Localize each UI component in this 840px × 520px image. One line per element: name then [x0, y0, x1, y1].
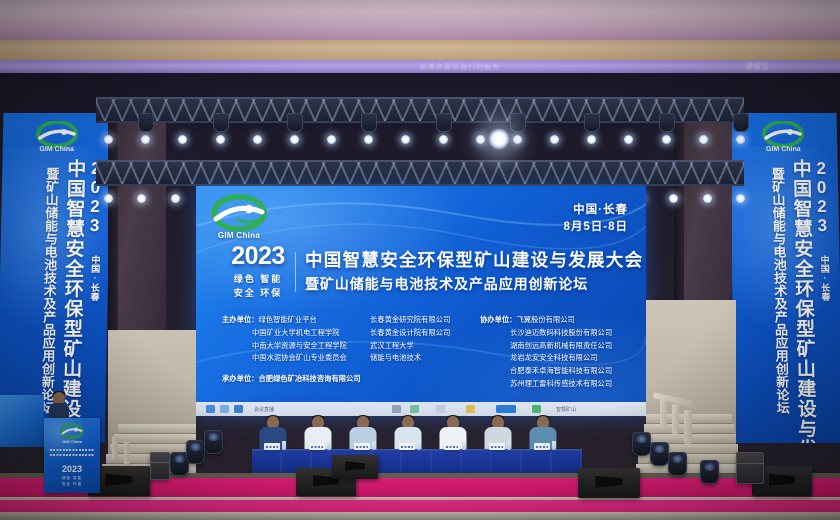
floor-moving-light — [204, 430, 223, 454]
balustrade-post — [112, 436, 118, 460]
standee-sub-2: 安全 环保 — [44, 481, 100, 487]
gim-logo-icon: GIM China — [760, 121, 807, 153]
stage-apron-edge-lower — [0, 512, 840, 520]
standee-text-line — [50, 449, 94, 451]
truss-row-upper — [96, 97, 744, 123]
screen-year-sub-1: 绿色 智能 — [226, 273, 290, 287]
screen-title-main: 中国智慧安全环保型矿山建设与发展大会 — [305, 250, 643, 272]
stage-spot-light — [141, 135, 150, 144]
host-value-1: 中国矿业大学机电工程学院 — [222, 327, 370, 340]
screen-dates: 8月5日-8日 — [563, 219, 628, 236]
stage-spot-light — [401, 135, 410, 144]
svg-text:GIM China: GIM China — [766, 146, 801, 153]
stage-spot-light — [736, 135, 745, 144]
side-monitor-screen — [0, 395, 44, 447]
browser-reload-icon — [234, 405, 243, 413]
speaker-name-card — [309, 443, 325, 450]
screen-undertaker-line: 承办单位：合肥绿色矿冶科技咨询有限公司 — [222, 374, 361, 384]
side-banner-right: GIM China 2023 中国·长春 中国智慧安全环保型矿山建设与发展大会 … — [729, 113, 840, 443]
ceiling-led-text: 如果你喜欢我们的服务 — [420, 62, 500, 72]
stage-monitor-speaker — [578, 468, 640, 498]
water-bottle — [282, 441, 286, 450]
title-divider — [295, 252, 296, 292]
screen-title-text: 中国智慧安全环保型矿山建设与发展大会 暨矿山储能与电池技术及产品应用创新论坛 — [305, 250, 643, 293]
stage-spot-light — [662, 135, 671, 144]
ceiling-led-strip: 如果你喜欢我们的服务 请留言 — [0, 60, 840, 73]
screen-browser-strip: 会议直播 智慧矿山 — [196, 402, 646, 416]
moving-head-light — [138, 113, 154, 132]
stage-photo: 如果你喜欢我们的服务 请留言 GIM China 2023 中国·长春 中国智慧… — [0, 0, 840, 520]
stage-monitor-speaker — [332, 455, 378, 479]
screen-year-block: 2023 绿色 智能 安全 环保 — [226, 244, 290, 300]
speaker-name-card — [489, 443, 505, 450]
stage-spot-light — [513, 135, 522, 144]
browser-url-text: 会议直播 — [254, 406, 274, 413]
toolbar-icon-3 — [436, 405, 445, 413]
stage-spot-light — [669, 194, 678, 203]
water-bottle — [372, 441, 376, 450]
browser-forward-icon — [220, 405, 229, 413]
standee-wordmark: GIM China — [44, 439, 100, 444]
balustrade-post — [660, 398, 667, 428]
browser-back-icon — [206, 405, 215, 413]
moving-head-light — [361, 113, 377, 132]
stage-spot-light — [476, 135, 485, 144]
stage-spot-light — [178, 135, 187, 144]
stage-spot-light — [104, 194, 113, 203]
undertaker-value: 合肥绿色矿冶科技咨询有限公司 — [258, 374, 360, 383]
water-bottle — [417, 441, 421, 450]
cohost-label: 协办单位： — [480, 315, 516, 324]
gim-logo-wordmark: GIM China — [208, 231, 270, 240]
screen-year-sub-2: 安全 环保 — [226, 287, 290, 301]
stage-spot-light — [290, 135, 299, 144]
gim-logo-icon — [59, 423, 85, 440]
speaker-name-card — [399, 443, 415, 450]
floor-moving-light — [186, 440, 205, 464]
toolbar-icon-5 — [496, 405, 516, 413]
host2-value-2: 武汉工程大学 — [370, 340, 480, 353]
banner-left-title-sub: 暨矿山储能与电池技术及产品应用创新论坛 — [40, 167, 58, 414]
balustrade-post — [672, 404, 679, 434]
truss-row-lower — [96, 160, 744, 186]
host2-value-1: 长春黄金设计院有限公司 — [370, 327, 480, 340]
standee-banner: GIM China 2023 绿色 智能 安全 环保 — [44, 418, 100, 493]
moving-head-light — [584, 113, 600, 132]
floor-moving-light — [650, 442, 669, 466]
standee-year: 2023 — [44, 464, 100, 474]
floor-moving-light — [632, 432, 651, 456]
stage-spot-light — [439, 135, 448, 144]
stage-spot-light — [364, 135, 373, 144]
cohost-value-3: 龙岩龙安安全科技有限公司 — [480, 352, 626, 365]
moving-head-light — [436, 113, 452, 132]
stage-spot-light — [624, 135, 633, 144]
water-bottle — [552, 441, 556, 450]
toolbar-icon-1 — [392, 405, 401, 413]
toolbar-icon-2 — [410, 405, 419, 413]
toolbar-icon-4 — [466, 405, 475, 413]
gim-logo-icon: GIM China — [34, 121, 81, 153]
water-bottle — [507, 441, 511, 450]
host-value-2: 中南大学资源与安全工程学院 — [222, 340, 370, 353]
banner-right-title-sub: 暨矿山储能与电池技术及产品应用创新论坛 — [770, 167, 788, 414]
cohost-value-5: 苏州理工雷科传感技术有限公司 — [480, 378, 626, 391]
balustrade-post — [684, 410, 692, 444]
speaker-name-card — [534, 443, 550, 450]
stage-spot-light — [703, 194, 712, 203]
organizer-column-2: 长春黄金研究院有限公司 长春黄金设计院有限公司 武汉工程大学 储能与电池技术 — [370, 314, 480, 391]
browser-tab-text: 智慧矿山 — [556, 406, 576, 413]
svg-text:GIM China: GIM China — [39, 146, 74, 153]
banner-right-location: 中国·长春 — [819, 255, 829, 301]
moving-head-light — [659, 113, 675, 132]
stage-spot-light — [253, 135, 262, 144]
main-led-screen: GIM China 中国·长春 8月5日-8日 2023 绿色 智能 安全 环保… — [196, 186, 646, 416]
host-label: 主办单位： — [222, 315, 258, 324]
banner-right-year: 2023 — [812, 159, 831, 235]
ceiling-led-text-right: 请留言 — [745, 61, 769, 72]
floor-moving-light — [700, 460, 719, 484]
screen-title-sub: 暨矿山储能与电池技术及产品应用创新论坛 — [305, 275, 643, 293]
screen-location-block: 中国·长春 8月5日-8日 — [563, 202, 628, 235]
speaker-name-card — [444, 443, 460, 450]
stage-spot-light — [327, 135, 336, 144]
stage-spot-light — [171, 194, 180, 203]
balustrade-post — [124, 442, 130, 466]
equipment-road-case — [736, 452, 764, 484]
speaker-name-card — [264, 443, 280, 450]
water-bottle — [462, 441, 466, 450]
undertaker-label: 承办单位： — [222, 374, 258, 383]
toolbar-icon-6 — [532, 405, 541, 413]
bright-stage-spot — [488, 128, 510, 150]
standee-sub: 绿色 智能 安全 环保 — [44, 475, 100, 487]
floor-moving-light — [668, 452, 687, 476]
water-bottle — [327, 441, 331, 450]
host-value-3: 中国水泥协会矿山专业委员会 — [222, 352, 370, 365]
stage-spot-light — [550, 135, 559, 144]
light-row-upper — [96, 127, 744, 153]
screen-year: 2023 — [226, 244, 290, 269]
screen-location: 中国·长春 — [563, 202, 628, 219]
stage-spot-light — [736, 194, 745, 203]
host-value-0: 绿色智能矿业平台 — [258, 315, 316, 324]
host2-value-3: 储能与电池技术 — [370, 352, 480, 365]
stage-spot-light — [216, 135, 225, 144]
screen-title-row: 2023 绿色 智能 安全 环保 中国智慧安全环保型矿山建设与发展大会 暨矿山储… — [226, 244, 622, 300]
moving-head-light — [733, 113, 749, 132]
speaker-name-card — [354, 443, 370, 450]
stage-spot-light — [104, 135, 113, 144]
equipment-road-case — [150, 452, 170, 480]
banner-left-location: 中国·长春 — [89, 255, 99, 301]
cohost-value-2: 湖南创远高新机械有限责任公司 — [480, 340, 626, 353]
moving-head-light — [287, 113, 303, 132]
host2-value-0: 长春黄金研究院有限公司 — [370, 314, 480, 327]
cohost-value-0: 飞翼股份有限公司 — [516, 315, 574, 324]
moving-head-light — [510, 113, 526, 132]
moving-head-light — [213, 113, 229, 132]
cohost-value-4: 合肥泰禾卓海智能科技有限公司 — [480, 365, 626, 378]
stage-spot-light — [587, 135, 596, 144]
ceiling-stone-band — [0, 40, 840, 62]
standee-text-line — [50, 454, 94, 456]
stage-spot-light — [699, 135, 708, 144]
screen-year-sub: 绿色 智能 安全 环保 — [226, 273, 290, 300]
stage-spot-light — [137, 194, 146, 203]
stair-step — [118, 424, 196, 434]
organizer-column-3: 协办单位：飞翼股份有限公司 长沙迪迈数码科技股份有限公司 湖南创远高新机械有限责… — [480, 314, 626, 391]
cohost-value-1: 长沙迪迈数码科技股份有限公司 — [480, 327, 626, 340]
